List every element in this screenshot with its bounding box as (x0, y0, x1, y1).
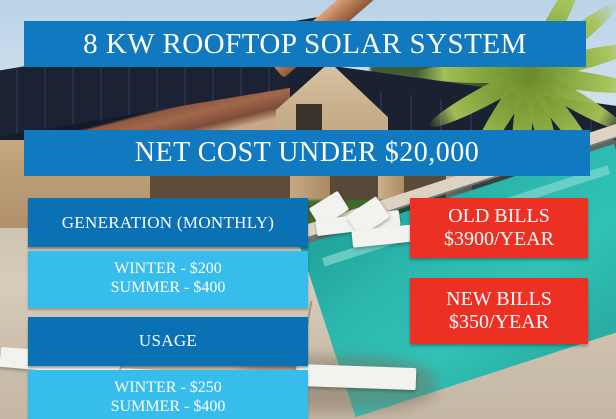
net-cost-banner: NET COST UNDER $20,000 (24, 130, 590, 176)
solar-infographic-poster: 8 KW ROOFTOP SOLAR SYSTEM NET COST UNDER… (0, 0, 616, 419)
generation-header-label: GENERATION (MONTHLY) (62, 213, 275, 233)
old-bills-callout: OLD BILLS $3900/YEAR (410, 198, 588, 258)
usage-header-label: USAGE (139, 331, 197, 351)
gable-vent (296, 104, 322, 130)
generation-header: GENERATION (MONTHLY) (28, 198, 308, 247)
usage-values: WINTER - $250 SUMMER - $400 (28, 370, 308, 419)
generation-summer-value: SUMMER - $400 (28, 279, 308, 298)
poster-title: 8 KW ROOFTOP SOLAR SYSTEM (83, 28, 527, 61)
generation-values: WINTER - $200 SUMMER - $400 (28, 251, 308, 308)
old-bills-title: OLD BILLS (448, 205, 550, 228)
usage-header: USAGE (28, 317, 308, 366)
poster-title-banner: 8 KW ROOFTOP SOLAR SYSTEM (24, 21, 586, 67)
new-bills-callout: NEW BILLS $350/YEAR (410, 278, 588, 344)
old-bills-value: $3900/YEAR (444, 228, 554, 251)
pool-lounger-5 (296, 364, 417, 390)
net-cost-text: NET COST UNDER $20,000 (135, 137, 479, 169)
stat-gap-2 (28, 308, 308, 317)
new-bills-value: $350/YEAR (449, 311, 549, 334)
new-bills-title: NEW BILLS (446, 288, 552, 311)
usage-summer-value: SUMMER - $400 (28, 398, 308, 417)
usage-winter-value: WINTER - $250 (28, 379, 308, 398)
generation-winter-value: WINTER - $200 (28, 260, 308, 279)
stats-stack: GENERATION (MONTHLY) WINTER - $200 SUMME… (28, 198, 308, 419)
